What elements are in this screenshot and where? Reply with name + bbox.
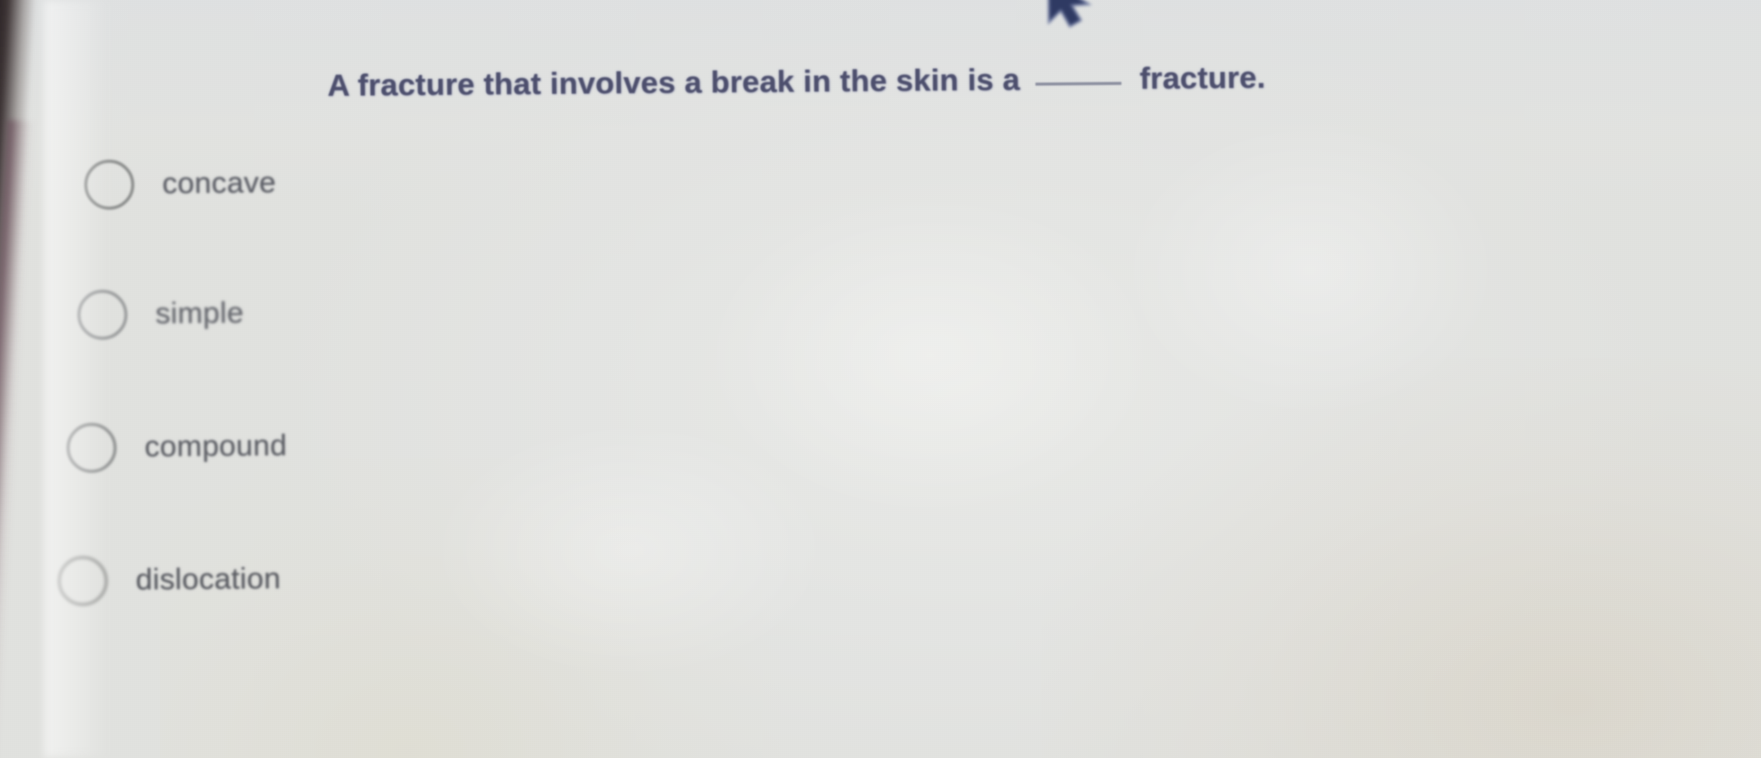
radio-unchecked-icon[interactable]: [66, 423, 116, 473]
radio-unchecked-icon[interactable]: [84, 160, 134, 210]
answer-option-label: compound: [144, 429, 287, 464]
answer-option-simple[interactable]: simple: [77, 289, 244, 340]
radio-unchecked-icon[interactable]: [77, 290, 127, 340]
answer-option-label: concave: [162, 166, 276, 201]
answer-option-label: simple: [155, 297, 244, 332]
radio-unchecked-icon[interactable]: [58, 556, 108, 606]
answer-option-label: dislocation: [136, 562, 281, 597]
answer-option-concave[interactable]: concave: [84, 158, 276, 210]
answer-option-compound[interactable]: compound: [66, 421, 287, 473]
answer-option-dislocation[interactable]: dislocation: [58, 554, 281, 606]
answer-options-list: concave simple compound dislocation: [0, 0, 1761, 758]
quiz-content: A fracture that involves a break in the …: [0, 0, 1761, 758]
quiz-screenshot: A fracture that involves a break in the …: [0, 0, 1761, 758]
